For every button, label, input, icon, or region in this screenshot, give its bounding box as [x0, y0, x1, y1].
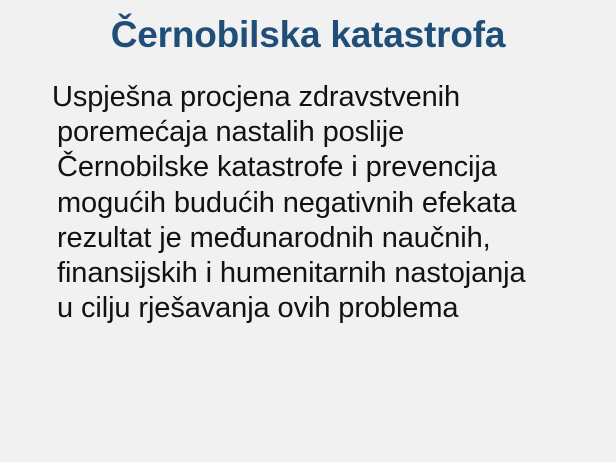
presentation-slide: Černobilska katastrofa Uspješna procjena… [0, 0, 616, 462]
body-line: Černobilske katastrofe i prevencija [52, 150, 612, 185]
body-line: u cilju rješavanja ovih problema [52, 291, 612, 326]
slide-body-text: Uspješna procjena zdravstvenih poremećaj… [52, 80, 612, 326]
body-line: Uspješna procjena zdravstvenih [52, 80, 612, 115]
body-line: mogućih budućih negativnih efekata [52, 186, 612, 221]
slide-title: Černobilska katastrofa [0, 12, 616, 58]
body-line: rezultat je međunarodnih naučnih, [52, 221, 612, 256]
body-line: finansijskih i humenitarnih nastojanja [52, 256, 612, 291]
body-line: poremećaja nastalih poslije [52, 115, 612, 150]
